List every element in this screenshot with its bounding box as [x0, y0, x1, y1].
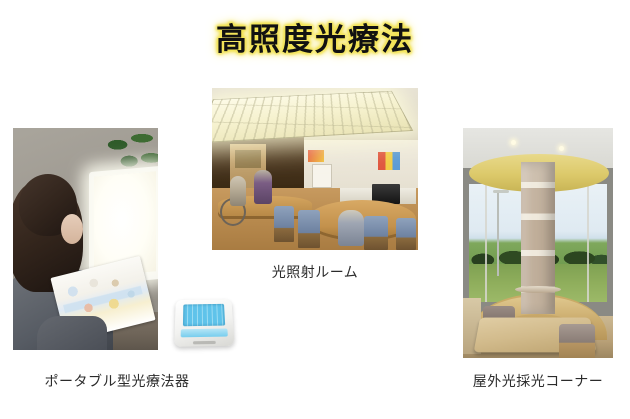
portable-photo-scene	[13, 128, 158, 350]
room-photo-scene	[212, 88, 418, 250]
caption-light-irradiation-room: 光照射ルーム	[212, 262, 418, 282]
wall-poster-b	[312, 164, 332, 188]
device-led-strip	[181, 328, 228, 337]
corner-photo-scene	[463, 128, 613, 358]
wall-poster-c	[378, 152, 400, 170]
window-mullion-1	[485, 184, 487, 302]
device-led-panel	[183, 304, 225, 326]
caption-portable-light-therapy-device: ポータブル型光療法器	[0, 371, 234, 391]
wall-poster-a	[308, 150, 324, 162]
column-ring	[515, 286, 561, 293]
chair-2	[298, 210, 320, 248]
page-title: 高照度光療法	[0, 14, 630, 59]
downlight-2	[559, 146, 564, 151]
chair-1	[274, 206, 294, 242]
portable-light-therapy-device	[174, 299, 234, 347]
photo-outdoor-light-corner	[463, 128, 613, 358]
person-face	[61, 214, 83, 244]
downlight-1	[511, 140, 516, 145]
corner-chair-right	[559, 324, 595, 358]
photo-portable-light-therapy	[13, 128, 158, 350]
photo-light-irradiation-room	[212, 88, 418, 250]
chair-4	[396, 218, 416, 250]
caption-outdoor-light-corner: 屋外光採光コーナー	[455, 371, 621, 391]
window-mullion-3	[587, 184, 589, 302]
seated-person-c	[338, 210, 364, 246]
chair-3	[364, 216, 388, 250]
outdoor-lamppost	[497, 192, 499, 276]
lamppost-arm	[493, 190, 509, 193]
device-brand-mark	[193, 341, 216, 345]
seated-person-a	[230, 176, 246, 206]
person-arm	[37, 316, 107, 350]
seated-person-b	[254, 170, 272, 204]
